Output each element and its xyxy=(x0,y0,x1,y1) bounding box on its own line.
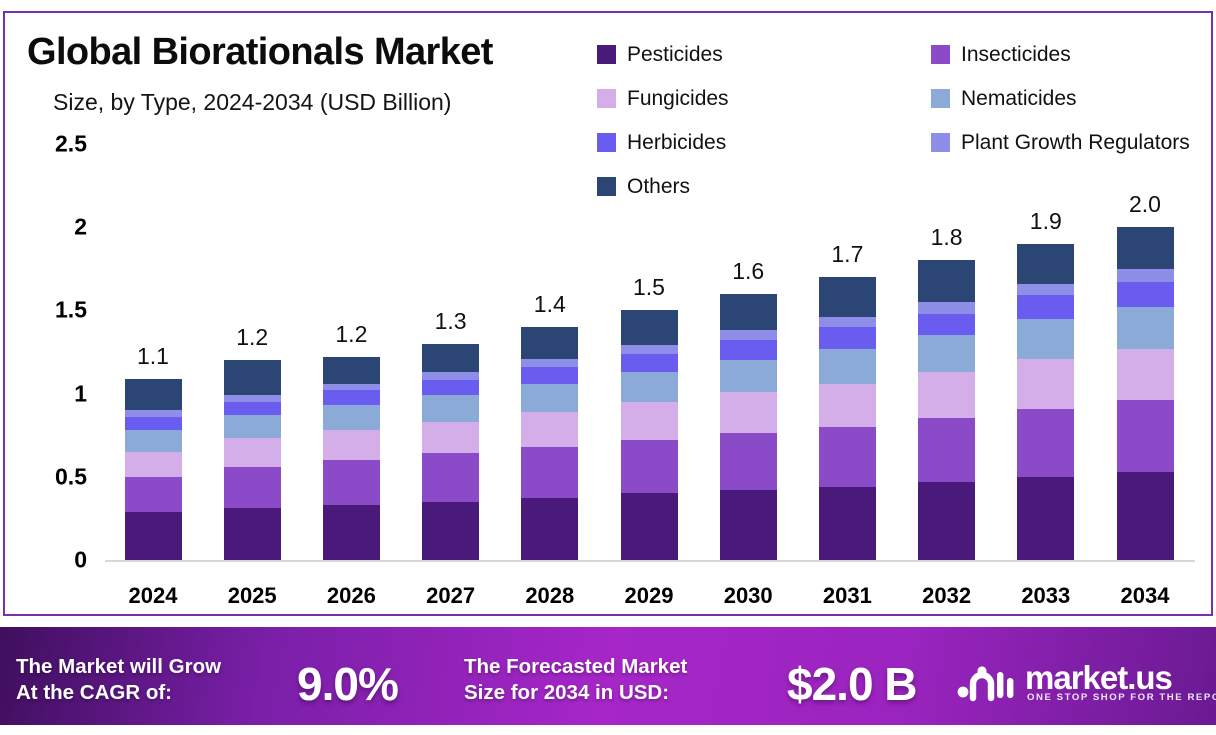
bar-2025[interactable] xyxy=(224,360,281,560)
logo-mark-icon xyxy=(957,662,1015,702)
forecast-caption: The Forecasted MarketSize for 2034 in US… xyxy=(464,654,687,706)
y-axis-tick-label: 2 xyxy=(17,214,87,241)
x-axis-label-2034: 2034 xyxy=(1090,583,1200,609)
x-axis-label-2031: 2031 xyxy=(792,583,902,609)
bar-2033[interactable] xyxy=(1017,244,1074,560)
y-axis-tick-label: 2.5 xyxy=(17,130,87,157)
x-axis-label-2030: 2030 xyxy=(693,583,803,609)
bar-segment-pesticides[interactable] xyxy=(422,502,479,560)
bar-segment-fungicides[interactable] xyxy=(1017,359,1074,409)
bar-segment-insecticides[interactable] xyxy=(621,440,678,493)
bar-segment-others[interactable] xyxy=(521,327,578,359)
bar-segment-pesticides[interactable] xyxy=(621,493,678,560)
bar-segment-pesticides[interactable] xyxy=(323,505,380,560)
bar-segment-fungicides[interactable] xyxy=(621,402,678,440)
bar-segment-plant-growth-regulators[interactable] xyxy=(125,410,182,417)
bar-segment-herbicides[interactable] xyxy=(918,314,975,336)
bar-segment-insecticides[interactable] xyxy=(819,427,876,487)
bar-segment-nematicides[interactable] xyxy=(125,430,182,452)
bar-value-label: 1.6 xyxy=(703,258,793,285)
x-axis-label-2025: 2025 xyxy=(197,583,307,609)
bar-segment-nematicides[interactable] xyxy=(224,415,281,438)
bar-segment-fungicides[interactable] xyxy=(521,412,578,447)
bar-segment-nematicides[interactable] xyxy=(621,372,678,402)
bar-segment-pesticides[interactable] xyxy=(1017,477,1074,560)
y-axis-tick-label: 0.5 xyxy=(17,463,87,490)
bar-segment-fungicides[interactable] xyxy=(422,422,479,454)
bar-segment-pesticides[interactable] xyxy=(125,512,182,560)
bar-2032[interactable] xyxy=(918,260,975,560)
bar-2027[interactable] xyxy=(422,344,479,560)
bar-segment-fungicides[interactable] xyxy=(224,438,281,466)
bar-segment-plant-growth-regulators[interactable] xyxy=(521,359,578,367)
bar-segment-insecticides[interactable] xyxy=(224,467,281,509)
bar-segment-pesticides[interactable] xyxy=(720,490,777,560)
bar-value-label: 1.4 xyxy=(505,291,595,318)
bar-segment-fungicides[interactable] xyxy=(720,392,777,434)
bar-2030[interactable] xyxy=(720,294,777,560)
bar-segment-insecticides[interactable] xyxy=(1117,400,1174,472)
bar-segment-nematicides[interactable] xyxy=(323,405,380,430)
bar-2026[interactable] xyxy=(323,357,380,560)
bar-segment-plant-growth-regulators[interactable] xyxy=(621,345,678,353)
bar-segment-others[interactable] xyxy=(918,260,975,302)
bar-segment-others[interactable] xyxy=(1017,244,1074,284)
x-axis-label-2033: 2033 xyxy=(991,583,1101,609)
bar-segment-plant-growth-regulators[interactable] xyxy=(1117,269,1174,282)
bar-segment-fungicides[interactable] xyxy=(918,372,975,419)
bar-segment-others[interactable] xyxy=(621,310,678,345)
bar-segment-herbicides[interactable] xyxy=(621,354,678,372)
bar-segment-pesticides[interactable] xyxy=(918,482,975,560)
bar-segment-plant-growth-regulators[interactable] xyxy=(1017,284,1074,296)
bar-segment-insecticides[interactable] xyxy=(125,477,182,512)
forecast-value: $2.0 B xyxy=(787,657,917,711)
bar-segment-insecticides[interactable] xyxy=(422,453,479,501)
bar-segment-herbicides[interactable] xyxy=(125,417,182,430)
bar-segment-fungicides[interactable] xyxy=(1117,349,1174,401)
bar-segment-others[interactable] xyxy=(422,344,479,372)
bar-segment-pesticides[interactable] xyxy=(819,487,876,560)
y-axis-tick-label: 0 xyxy=(17,547,87,574)
bar-value-label: 1.2 xyxy=(207,324,297,351)
bar-value-label: 1.8 xyxy=(902,224,992,251)
cagr-caption: The Market will GrowAt the CAGR of: xyxy=(16,654,221,706)
bar-segment-nematicides[interactable] xyxy=(720,360,777,392)
bar-value-label: 1.7 xyxy=(802,241,892,268)
bar-segment-nematicides[interactable] xyxy=(1117,307,1174,349)
bar-segment-nematicides[interactable] xyxy=(819,349,876,384)
bar-segment-nematicides[interactable] xyxy=(422,395,479,422)
bar-2024[interactable] xyxy=(125,379,182,560)
bar-segment-insecticides[interactable] xyxy=(918,418,975,481)
bar-segment-herbicides[interactable] xyxy=(720,340,777,360)
logo-tagline: ONE STOP SHOP FOR THE REPORTS xyxy=(1027,692,1216,703)
bar-segment-herbicides[interactable] xyxy=(224,402,281,415)
bar-segment-plant-growth-regulators[interactable] xyxy=(918,302,975,314)
bar-segment-others[interactable] xyxy=(224,360,281,395)
x-axis-label-2028: 2028 xyxy=(495,583,605,609)
bar-segment-insecticides[interactable] xyxy=(1017,409,1074,477)
bar-segment-plant-growth-regulators[interactable] xyxy=(720,330,777,340)
bar-segment-plant-growth-regulators[interactable] xyxy=(422,372,479,380)
footer-banner: The Market will GrowAt the CAGR of: 9.0%… xyxy=(0,627,1216,725)
bar-value-label: 1.5 xyxy=(604,274,694,301)
x-axis-line xyxy=(105,560,1195,562)
bar-value-label: 1.1 xyxy=(108,343,198,370)
bar-segment-others[interactable] xyxy=(125,379,182,411)
market-us-logo[interactable]: market.us ONE STOP SHOP FOR THE REPORTS xyxy=(957,660,1189,708)
bar-segment-insecticides[interactable] xyxy=(720,433,777,490)
bar-segment-others[interactable] xyxy=(720,294,777,331)
bar-segment-insecticides[interactable] xyxy=(323,460,380,505)
bar-segment-pesticides[interactable] xyxy=(1117,472,1174,560)
bar-2029[interactable] xyxy=(621,310,678,560)
bar-value-label: 2.0 xyxy=(1100,191,1190,218)
bar-2034[interactable] xyxy=(1117,227,1174,560)
x-axis-label-2027: 2027 xyxy=(396,583,506,609)
bar-2028[interactable] xyxy=(521,327,578,560)
bar-value-label: 1.3 xyxy=(406,308,496,335)
bar-segment-pesticides[interactable] xyxy=(521,498,578,560)
bar-segment-fungicides[interactable] xyxy=(819,384,876,427)
bar-segment-plant-growth-regulators[interactable] xyxy=(224,395,281,402)
bar-segment-fungicides[interactable] xyxy=(125,452,182,477)
x-axis-label-2032: 2032 xyxy=(892,583,1002,609)
chart-plot-area: 00.511.522.51.120241.220251.220261.32027… xyxy=(5,13,1215,618)
bar-segment-herbicides[interactable] xyxy=(819,327,876,349)
bar-segment-others[interactable] xyxy=(819,277,876,317)
bar-segment-pesticides[interactable] xyxy=(224,508,281,560)
x-axis-label-2029: 2029 xyxy=(594,583,704,609)
y-axis-tick-label: 1.5 xyxy=(17,297,87,324)
bar-segment-herbicides[interactable] xyxy=(422,380,479,395)
bar-value-label: 1.9 xyxy=(1001,208,1091,235)
bar-segment-nematicides[interactable] xyxy=(918,335,975,372)
bar-segment-herbicides[interactable] xyxy=(323,390,380,405)
bar-segment-insecticides[interactable] xyxy=(521,447,578,499)
bar-segment-nematicides[interactable] xyxy=(521,384,578,412)
bar-value-label: 1.2 xyxy=(306,321,396,348)
bar-segment-herbicides[interactable] xyxy=(1117,282,1174,307)
bar-2031[interactable] xyxy=(819,277,876,560)
y-axis-tick-label: 1 xyxy=(17,380,87,407)
bar-segment-others[interactable] xyxy=(1117,227,1174,269)
bar-segment-herbicides[interactable] xyxy=(521,367,578,384)
bar-segment-plant-growth-regulators[interactable] xyxy=(819,317,876,327)
x-axis-label-2026: 2026 xyxy=(296,583,406,609)
bar-segment-nematicides[interactable] xyxy=(1017,319,1074,359)
bar-segment-plant-growth-regulators[interactable] xyxy=(323,384,380,391)
cagr-value: 9.0% xyxy=(297,657,398,711)
bar-segment-others[interactable] xyxy=(323,357,380,384)
chart-card: Global Biorationals Market Size, by Type… xyxy=(3,11,1213,616)
x-axis-label-2024: 2024 xyxy=(98,583,208,609)
bar-segment-fungicides[interactable] xyxy=(323,430,380,460)
bar-segment-herbicides[interactable] xyxy=(1017,295,1074,318)
